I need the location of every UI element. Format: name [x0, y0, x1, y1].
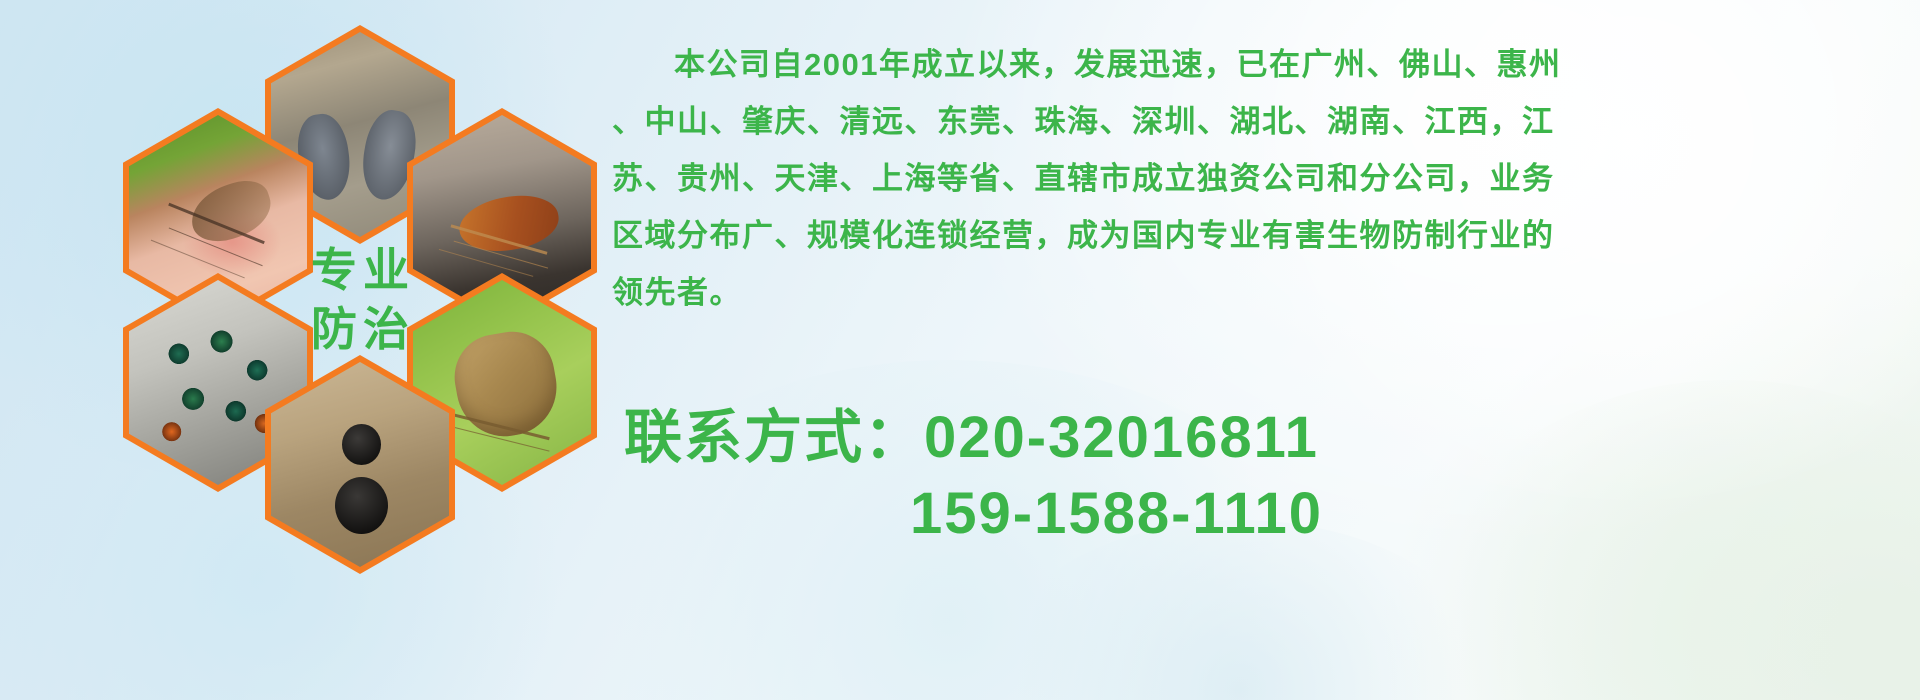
intro-line-4: 区域分布广、规模化连锁经营，成为国内专业有害生物防制行业的: [612, 207, 1914, 264]
logo-slogan-line1: 专业: [305, 246, 415, 294]
contact-block: 联系方式：020-32016811 159-1588-1110: [624, 400, 1914, 552]
intro-line-1: 本公司自2001年成立以来，发展迅速，已在广州、佛山、惠州: [612, 36, 1914, 93]
intro-line-3: 苏、贵州、天津、上海等省、直辖市成立独资公司和分公司，业务: [612, 150, 1914, 207]
intro-paragraph: 本公司自2001年成立以来，发展迅速，已在广州、佛山、惠州 、中山、肇庆、清远、…: [612, 36, 1914, 321]
logo-slogan-line2: 防治: [305, 305, 415, 353]
contact-mobile[interactable]: 159-1588-1110: [624, 476, 1914, 552]
logo-slogan: 专业 防治: [271, 197, 449, 402]
contact-landline[interactable]: 联系方式：020-32016811: [624, 400, 1914, 476]
intro-line-2: 、中山、肇庆、清远、东莞、珠海、深圳、湖北、湖南、江西，江: [612, 93, 1914, 150]
honeycomb-collage: 专业 防治: [95, 0, 585, 560]
intro-line-5: 领先者。: [612, 264, 1914, 321]
promo-banner: 专业 防治 本公司自2001年成立以来，发展迅速，已在广州、佛山、惠州 、中山、…: [0, 0, 1920, 700]
